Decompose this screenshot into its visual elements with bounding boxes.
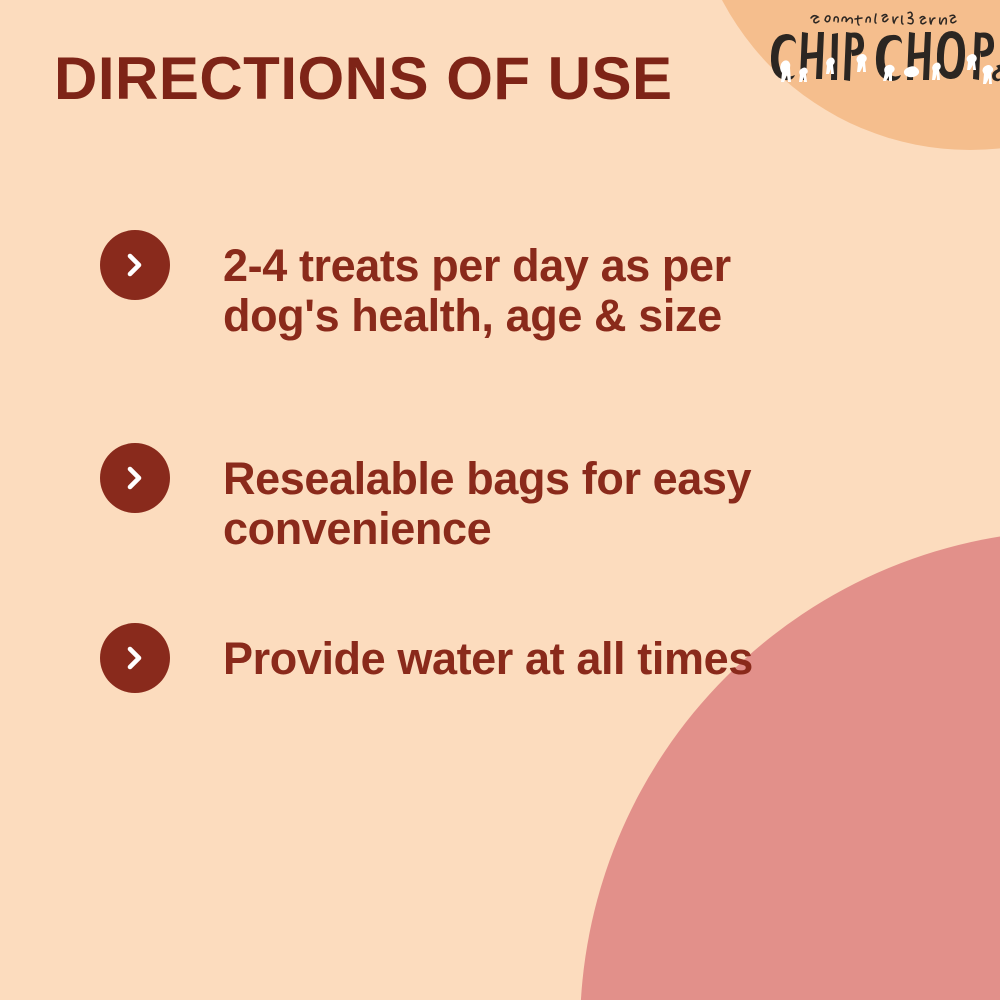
list-item-label: 2-4 treats per day as per dog's health, … <box>223 230 823 341</box>
poster-canvas: DIRECTIONS OF USE 2-4 treats per day as … <box>0 0 1000 1000</box>
list-item: Provide water at all times <box>100 623 753 693</box>
list-item-label: Provide water at all times <box>223 623 753 684</box>
list-item-label: Resealable bags for easy convenience <box>223 443 823 554</box>
chevron-right-icon <box>100 623 170 693</box>
directions-list: 2-4 treats per day as per dog's health, … <box>0 0 1000 1000</box>
chevron-right-icon <box>100 230 170 300</box>
list-item: 2-4 treats per day as per dog's health, … <box>100 230 823 341</box>
list-item: Resealable bags for easy convenience <box>100 443 823 554</box>
chevron-right-icon <box>100 443 170 513</box>
